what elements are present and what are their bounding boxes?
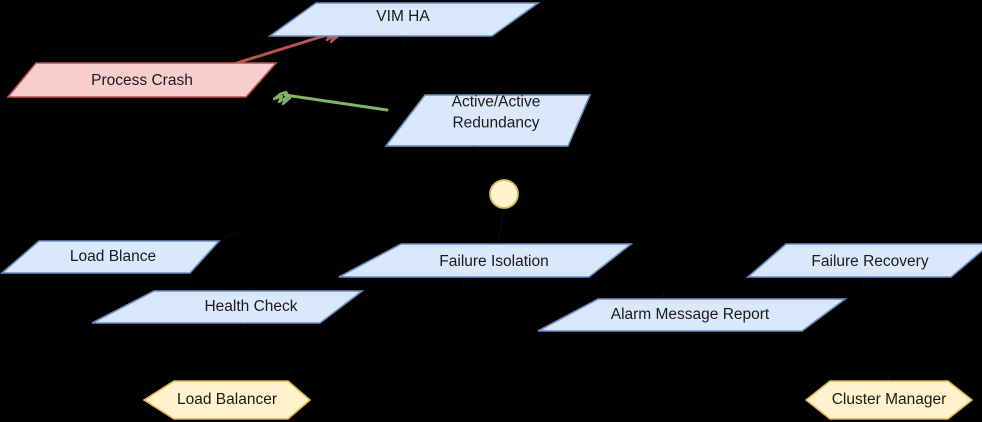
- node-label: Failure Isolation: [439, 253, 548, 270]
- junction-circle[interactable]: [490, 180, 518, 208]
- edge-junction-to-failure-isolation: [498, 208, 504, 244]
- edge-failure-isolation-up: [493, 237, 494, 244]
- node-vim-ha[interactable]: VIM HA: [270, 3, 538, 36]
- node-health-check[interactable]: Health Check: [92, 291, 362, 323]
- node-process-crash[interactable]: Process Crash: [8, 63, 276, 97]
- arrowhead-icon: [274, 92, 290, 104]
- node-label-line: Active/Active: [452, 94, 541, 111]
- node-label-line: Load Blance: [70, 248, 156, 265]
- edge-alarm-report-up: [662, 292, 664, 299]
- node-label: Alarm Message Report: [611, 306, 770, 323]
- node-alarm-message-report[interactable]: Alarm Message Report: [538, 299, 845, 331]
- node-label-line: Health Check: [204, 298, 297, 315]
- node-label: Cluster Manager: [832, 391, 947, 408]
- node-label: VIM HA: [376, 8, 430, 25]
- node-label: Failure Recovery: [811, 253, 928, 270]
- node-cluster-manager[interactable]: Cluster Manager: [806, 381, 972, 419]
- edge-active-active-redundancy-to-left: [274, 92, 387, 110]
- node-failure-recovery[interactable]: Failure Recovery: [748, 244, 982, 277]
- node-label: Health Check: [204, 298, 297, 315]
- node-label-line: Process Crash: [91, 72, 193, 89]
- node-failure-isolation[interactable]: Failure Isolation: [339, 244, 631, 277]
- node-load-balancer[interactable]: Load Balancer: [144, 381, 310, 419]
- node-active-active-redundancy[interactable]: Active/ActiveRedundancy: [386, 94, 590, 146]
- node-label: Process Crash: [91, 72, 193, 89]
- edge-failure-isolation-down: [462, 277, 466, 285]
- node-label-line: Failure Recovery: [811, 253, 928, 270]
- edge-health-check-down: [242, 323, 244, 333]
- nodes-layer: VIM HAProcess CrashActive/ActiveRedundan…: [2, 3, 982, 419]
- diagram-svg: VIM HAProcess CrashActive/ActiveRedundan…: [0, 0, 982, 422]
- node-label-line: Alarm Message Report: [611, 306, 770, 323]
- edge-failure-recovery-down: [863, 277, 865, 288]
- node-label: Load Blance: [70, 248, 156, 265]
- node-label-line: Load Balancer: [177, 391, 277, 408]
- node-label-line: Redundancy: [452, 115, 539, 132]
- node-load-blance[interactable]: Load Blance: [2, 241, 219, 273]
- node-label-line: Failure Isolation: [439, 253, 548, 270]
- node-label-line: Cluster Manager: [832, 391, 947, 408]
- edge-load-blance-right: [219, 231, 240, 241]
- node-label: Load Balancer: [177, 391, 277, 408]
- diagram-canvas: VIM HAProcess CrashActive/ActiveRedundan…: [0, 0, 982, 422]
- node-label-line: VIM HA: [376, 8, 430, 25]
